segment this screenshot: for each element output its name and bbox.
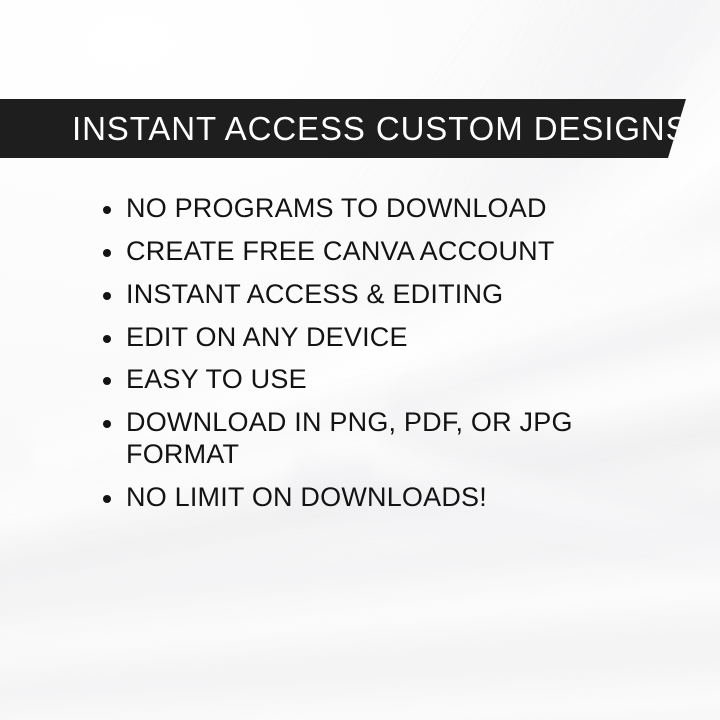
bullet-dot-icon: [103, 335, 111, 343]
list-item: INSTANT ACCESS & EDITING: [100, 279, 640, 311]
list-item-label: CREATE FREE CANVA ACCOUNT: [126, 236, 555, 266]
bullet-dot-icon: [103, 420, 111, 428]
silk-fold-6: [0, 596, 720, 720]
bullet-dot-icon: [103, 377, 111, 385]
list-item: EASY TO USE: [100, 364, 640, 396]
list-item: CREATE FREE CANVA ACCOUNT: [100, 236, 640, 268]
list-item-label: DOWNLOAD IN PNG, PDF, OR JPG FORMAT: [126, 407, 573, 469]
list-item-label: EDIT ON ANY DEVICE: [126, 322, 408, 352]
feature-list: NO PROGRAMS TO DOWNLOAD CREATE FREE CANV…: [100, 193, 640, 514]
bullet-dot-icon: [103, 249, 111, 257]
list-item: NO PROGRAMS TO DOWNLOAD: [100, 193, 640, 225]
page-title: INSTANT ACCESS CUSTOM DESIGNS: [72, 112, 689, 145]
list-item: EDIT ON ANY DEVICE: [100, 322, 640, 354]
list-item-label: NO PROGRAMS TO DOWNLOAD: [126, 193, 547, 223]
list-item-label: EASY TO USE: [126, 364, 307, 394]
list-item-label: INSTANT ACCESS & EDITING: [126, 279, 503, 309]
bullet-dot-icon: [103, 495, 111, 503]
list-item: DOWNLOAD IN PNG, PDF, OR JPG FORMAT: [100, 407, 640, 471]
title-banner: INSTANT ACCESS CUSTOM DESIGNS: [0, 99, 686, 158]
promo-graphic-canvas: INSTANT ACCESS CUSTOM DESIGNS NO PROGRAM…: [0, 0, 720, 720]
bullet-dot-icon: [103, 292, 111, 300]
bullet-dot-icon: [103, 206, 111, 214]
list-item-label: NO LIMIT ON DOWNLOADS!: [126, 482, 487, 512]
list-item: NO LIMIT ON DOWNLOADS!: [100, 482, 640, 514]
